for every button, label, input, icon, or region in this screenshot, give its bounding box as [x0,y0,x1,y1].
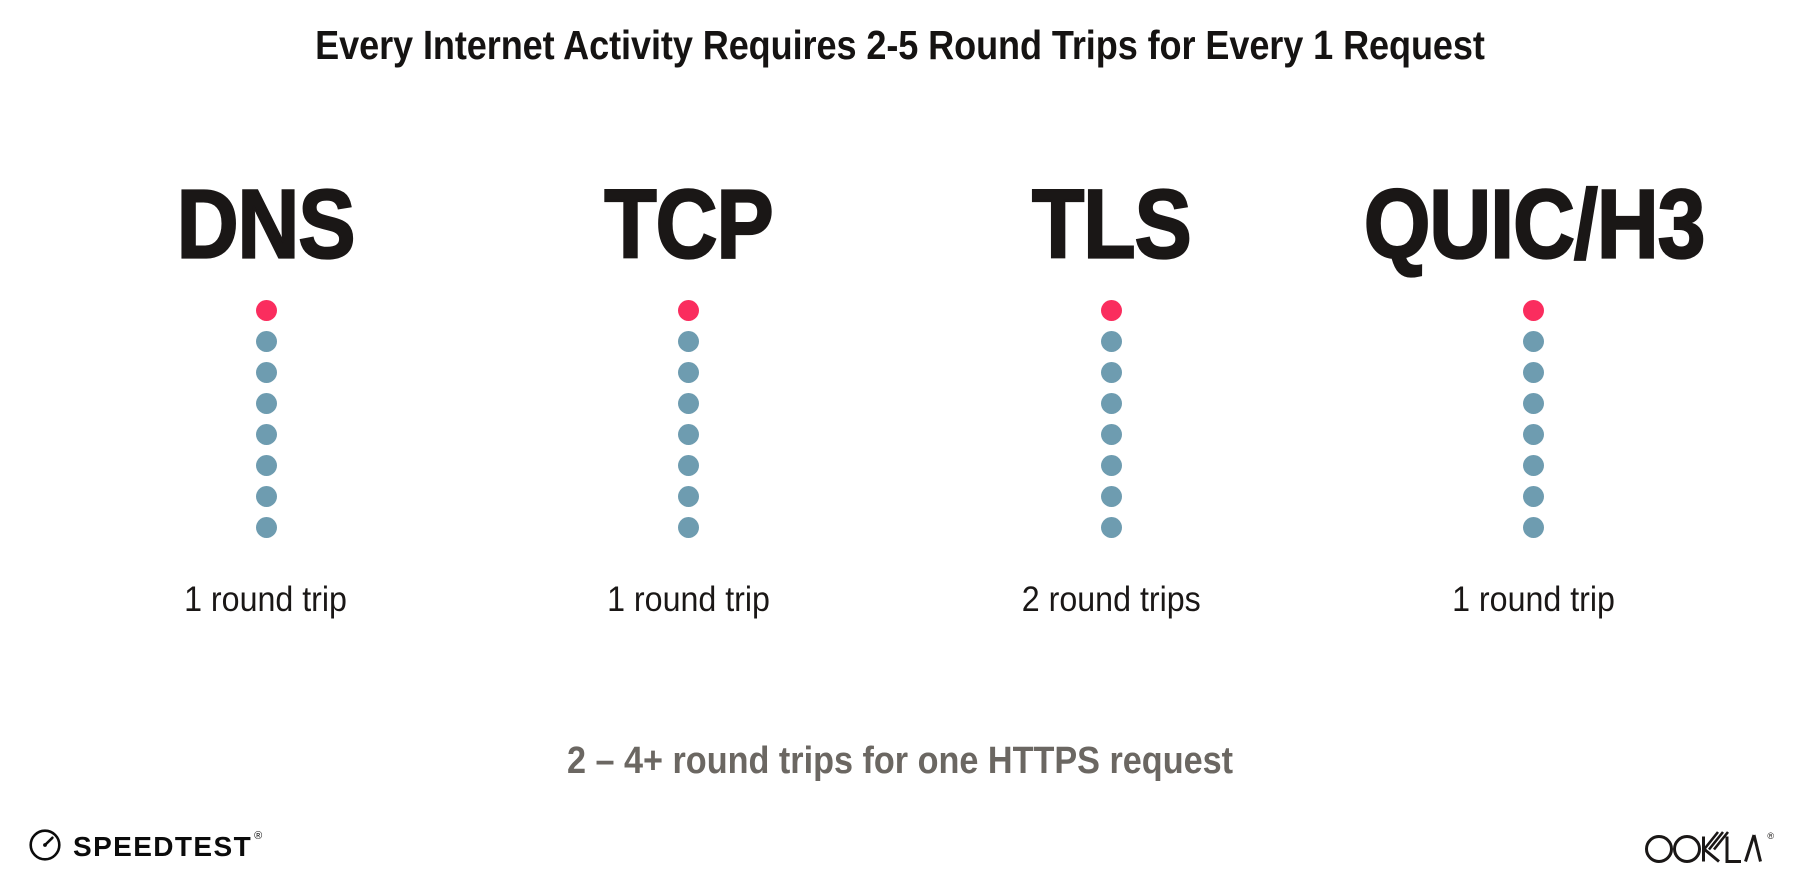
ookla-registered-mark: ® [1767,831,1774,841]
speedtest-wordmark: SPEEDTEST [73,833,252,861]
protocol-column-tcp: TCP 1 round trip [478,178,900,620]
protocol-column-dns: DNS 1 round trip [55,178,477,620]
infographic-canvas: Every Internet Activity Requires 2-5 Rou… [0,0,1800,895]
footer: SPEEDTEST ® [0,813,1800,873]
page-title: Every Internet Activity Requires 2-5 Rou… [108,22,1692,69]
speedometer-icon [28,828,62,867]
round-trip-dot [256,424,277,445]
round-trip-dot [678,362,699,383]
round-trip-dot [1523,424,1544,445]
ookla-logo-icon [1642,825,1766,870]
round-trip-dot [1101,486,1122,507]
round-trip-label-quic-h3: 1 round trip [1453,580,1616,620]
protocol-name-tcp: TCP [604,178,772,280]
round-trip-dot [256,455,277,476]
round-trip-dot [256,393,277,414]
round-trip-dot [256,331,277,352]
round-trip-dot [256,486,277,507]
round-trip-dot [678,455,699,476]
round-trip-dot-highlighted [256,300,277,321]
round-trip-label-tcp: 1 round trip [607,580,770,620]
round-trip-dots-tls [1101,300,1122,538]
protocol-name-tls: TLS [1032,178,1191,280]
round-trip-dot-highlighted [1101,300,1122,321]
round-trip-label-dns: 1 round trip [185,580,348,620]
round-trip-dot [1101,393,1122,414]
round-trip-dot [1101,331,1122,352]
round-trip-label-tls: 2 round trips [1022,580,1201,620]
speedtest-registered-mark: ® [254,830,262,842]
round-trip-dots-quic-h3 [1523,300,1544,538]
protocol-name-quic-h3: QUIC/H3 [1364,178,1705,280]
protocol-name-dns: DNS [177,178,355,280]
round-trip-dot [1523,362,1544,383]
round-trip-dots-dns [256,300,277,538]
round-trip-dot [678,486,699,507]
round-trip-dot-highlighted [1523,300,1544,321]
round-trip-dot [1523,331,1544,352]
speedtest-logo: SPEEDTEST ® [28,827,262,867]
round-trip-dot [1101,424,1122,445]
round-trip-dot [1523,486,1544,507]
summary-annotation: 2 – 4+ round trips for one HTTPS request [90,740,1710,783]
round-trip-dot [1101,362,1122,383]
round-trip-dot [256,517,277,538]
round-trip-dot-highlighted [678,300,699,321]
protocol-column-quic-h3: QUIC/H3 1 round trip [1323,178,1745,620]
round-trip-dot [678,393,699,414]
round-trip-dot [1523,393,1544,414]
round-trip-dot [1101,455,1122,476]
round-trip-dots-tcp [678,300,699,538]
round-trip-dot [678,424,699,445]
round-trip-dot [1101,517,1122,538]
ookla-logo: ® [1642,825,1774,869]
round-trip-dot [256,362,277,383]
protocol-columns: DNS 1 round trip TCP 1 round trip TLS 2 … [55,178,1745,620]
round-trip-dot [678,331,699,352]
round-trip-dot [678,517,699,538]
round-trip-dot [1523,455,1544,476]
round-trip-dot [1523,517,1544,538]
protocol-column-tls: TLS 2 round trips [900,178,1322,620]
